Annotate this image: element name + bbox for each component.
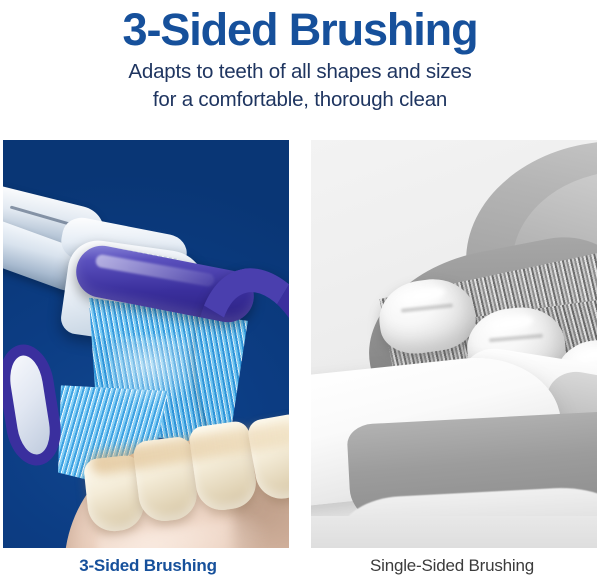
bristle-highlight bbox=[111, 336, 207, 408]
panel-single-sided-image bbox=[311, 140, 597, 548]
comparison-panels bbox=[0, 140, 600, 548]
single-sided-brushing-illustration bbox=[311, 140, 597, 548]
subtitle-line-2: for a comfortable, thorough clean bbox=[0, 87, 600, 112]
caption-three-sided: 3-Sided Brushing bbox=[2, 552, 294, 580]
right-panel-floor bbox=[311, 516, 597, 548]
subtitle-line-1: Adapts to teeth of all shapes and sizes bbox=[0, 59, 600, 84]
header: 3-Sided Brushing Adapts to teeth of all … bbox=[0, 0, 600, 112]
panel-three-sided-image bbox=[3, 140, 289, 548]
molar bbox=[374, 274, 479, 359]
page-title: 3-Sided Brushing bbox=[0, 4, 600, 56]
panel-captions: 3-Sided Brushing Single-Sided Brushing bbox=[0, 552, 600, 584]
caption-single-sided: Single-Sided Brushing bbox=[306, 552, 598, 580]
three-sided-brushing-illustration bbox=[3, 140, 289, 548]
